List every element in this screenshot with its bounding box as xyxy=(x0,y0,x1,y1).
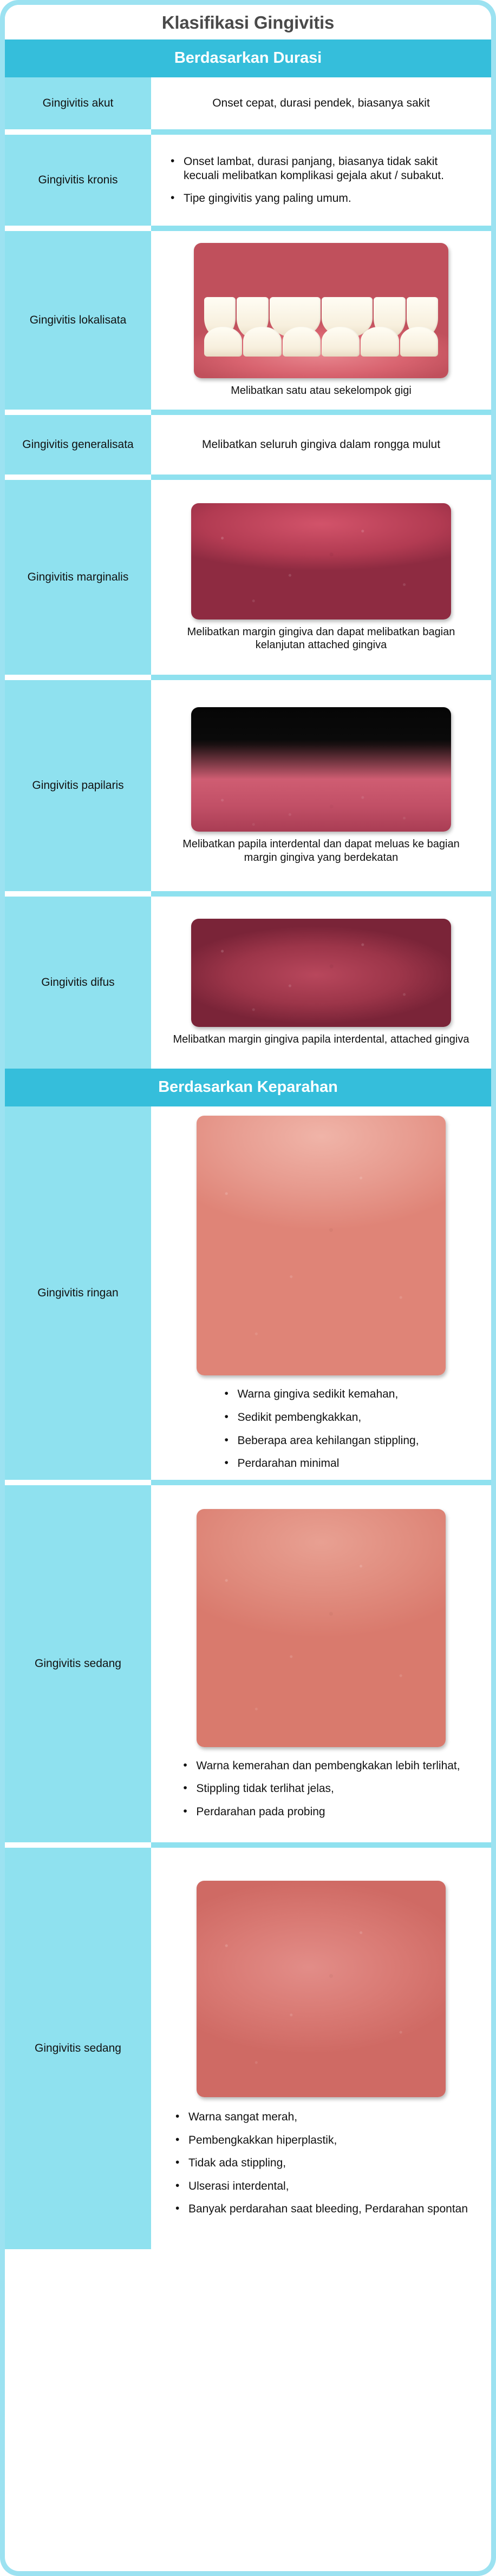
photo-papillary-gingiva xyxy=(191,707,451,832)
list-item: Pembengkakkan hiperplastik, xyxy=(174,2133,468,2147)
table-row: Gingivitis akut Onset cepat, durasi pend… xyxy=(5,77,491,129)
list-item: Warna kemerahan dan pembengkakan lebih t… xyxy=(182,1759,460,1773)
photo-mild-gingivitis xyxy=(197,1116,446,1375)
photo-severe-gingivitis xyxy=(197,1881,446,2097)
table-row: Gingivitis marginalis Melibatkan margin … xyxy=(5,480,491,675)
list-item: Perdarahan minimal xyxy=(223,1457,419,1471)
row-label: Gingivitis difus xyxy=(41,976,114,990)
row-label: Gingivitis sedang xyxy=(35,1657,121,1671)
page-title: Klasifikasi Gingivitis xyxy=(5,12,491,33)
row-divider xyxy=(5,1842,491,1848)
row-content-cell: Warna gingiva sedikit kemahan, Sedikit p… xyxy=(151,1106,491,1480)
section-rows-keparahan: Gingivitis ringan xyxy=(5,1106,491,2249)
row-content-cell: Melibatkan margin gingiva dan dapat meli… xyxy=(151,480,491,675)
table-row: Gingivitis ringan xyxy=(5,1106,491,1480)
table-row: Gingivitis lokalisata xyxy=(5,231,491,410)
poster-frame: Klasifikasi Gingivitis Berdasarkan Duras… xyxy=(0,0,496,2576)
table-row: Gingivitis sedang xyxy=(5,1485,491,1842)
list-item: Beberapa area kehilangan stippling, xyxy=(223,1434,419,1448)
photo-marginal-gingiva xyxy=(191,503,451,620)
row-label: Gingivitis papilaris xyxy=(32,779,123,793)
photo-moderate-gingivitis xyxy=(197,1509,446,1747)
row-content-cell: Melibatkan satu atau sekelompok gigi xyxy=(151,231,491,410)
photo-diffuse-gingiva xyxy=(191,919,451,1027)
list-item: Stippling tidak terlihat jelas, xyxy=(182,1782,460,1796)
row-content-cell: Warna kemerahan dan pembengkakan lebih t… xyxy=(151,1485,491,1842)
row-label-cell: Gingivitis akut xyxy=(5,77,151,129)
row-label: Gingivitis ringan xyxy=(37,1287,118,1300)
row-label-cell: Gingivitis papilaris xyxy=(5,680,151,891)
row-divider xyxy=(5,891,491,897)
list-item: Ulserasi interdental, xyxy=(174,2179,468,2193)
row-divider xyxy=(5,410,491,415)
table-row: Gingivitis generalisata Melibatkan selur… xyxy=(5,415,491,475)
list-item: Banyak perdarahan saat bleeding, Perdara… xyxy=(174,2202,468,2216)
list-item: Warna sangat merah, xyxy=(174,2110,468,2124)
row-divider xyxy=(5,129,491,135)
table-row: Gingivitis sedang xyxy=(5,1848,491,2249)
list-item: Sedikit pembengkakkan, xyxy=(223,1411,419,1425)
bullet-list: Onset lambat, durasi panjang, biasanya t… xyxy=(169,155,473,206)
row-label: Gingivitis generalisata xyxy=(22,438,133,452)
row-label-cell: Gingivitis lokalisata xyxy=(5,231,151,410)
row-label-cell: Gingivitis sedang xyxy=(5,1485,151,1842)
row-divider xyxy=(5,1480,491,1485)
bullet-list: Warna kemerahan dan pembengkakan lebih t… xyxy=(182,1759,460,1819)
row-divider xyxy=(5,226,491,231)
row-label-cell: Gingivitis generalisata xyxy=(5,415,151,475)
row-content-cell: Melibatkan seluruh gingiva dalam rongga … xyxy=(151,415,491,475)
photo-teeth-localized xyxy=(194,243,448,378)
row-label: Gingivitis sedang xyxy=(35,2042,121,2055)
row-label-cell: Gingivitis difus xyxy=(5,897,151,1069)
row-content-cell: Melibatkan margin gingiva papila interde… xyxy=(151,897,491,1069)
row-label: Gingivitis kronis xyxy=(38,174,118,187)
list-item: Perdarahan pada probing xyxy=(182,1805,460,1819)
poster-card: Klasifikasi Gingivitis Berdasarkan Duras… xyxy=(5,5,491,2571)
row-text: Onset cepat, durasi pendek, biasanya sak… xyxy=(163,96,479,110)
title-bar: Klasifikasi Gingivitis xyxy=(5,5,491,39)
row-label: Gingivitis lokalisata xyxy=(30,314,127,327)
row-label: Gingivitis marginalis xyxy=(28,571,129,584)
row-text: Melibatkan seluruh gingiva dalam rongga … xyxy=(163,438,479,452)
photo-caption: Melibatkan satu atau sekelompok gigi xyxy=(163,384,479,397)
bullet-list: Warna gingiva sedikit kemahan, Sedikit p… xyxy=(223,1387,419,1470)
photo-caption: Melibatkan margin gingiva dan dapat meli… xyxy=(163,625,479,652)
list-item: Tipe gingivitis yang paling umum. xyxy=(169,192,473,206)
photo-caption: Melibatkan papila interdental dan dapat … xyxy=(163,838,479,864)
row-label: Gingivitis akut xyxy=(43,97,114,110)
row-content-cell: Onset lambat, durasi panjang, biasanya t… xyxy=(151,135,491,226)
section-banner-keparahan: Berdasarkan Keparahan xyxy=(5,1069,491,1106)
section-banner-durasi: Berdasarkan Durasi xyxy=(5,39,491,77)
row-label-cell: Gingivitis ringan xyxy=(5,1106,151,1480)
table-row: Gingivitis kronis Onset lambat, durasi p… xyxy=(5,135,491,226)
row-content-cell: Onset cepat, durasi pendek, biasanya sak… xyxy=(151,77,491,129)
table-row: Gingivitis papilaris Melibatkan papila i… xyxy=(5,680,491,891)
section-rows-durasi: Gingivitis akut Onset cepat, durasi pend… xyxy=(5,77,491,1069)
photo-caption: Melibatkan margin gingiva papila interde… xyxy=(163,1033,479,1046)
list-item: Warna gingiva sedikit kemahan, xyxy=(223,1387,419,1401)
row-label-cell: Gingivitis kronis xyxy=(5,135,151,226)
list-item: Onset lambat, durasi panjang, biasanya t… xyxy=(169,155,473,182)
row-content-cell: Melibatkan papila interdental dan dapat … xyxy=(151,680,491,891)
row-label-cell: Gingivitis marginalis xyxy=(5,480,151,675)
list-item: Tidak ada stippling, xyxy=(174,2156,468,2170)
row-divider xyxy=(5,475,491,480)
table-row: Gingivitis difus Melibatkan margin gingi… xyxy=(5,897,491,1069)
row-label-cell: Gingivitis sedang xyxy=(5,1848,151,2249)
row-content-cell: Warna sangat merah, Pembengkakkan hiperp… xyxy=(151,1848,491,2249)
bullet-list: Warna sangat merah, Pembengkakkan hiperp… xyxy=(174,2110,468,2216)
row-divider xyxy=(5,675,491,680)
